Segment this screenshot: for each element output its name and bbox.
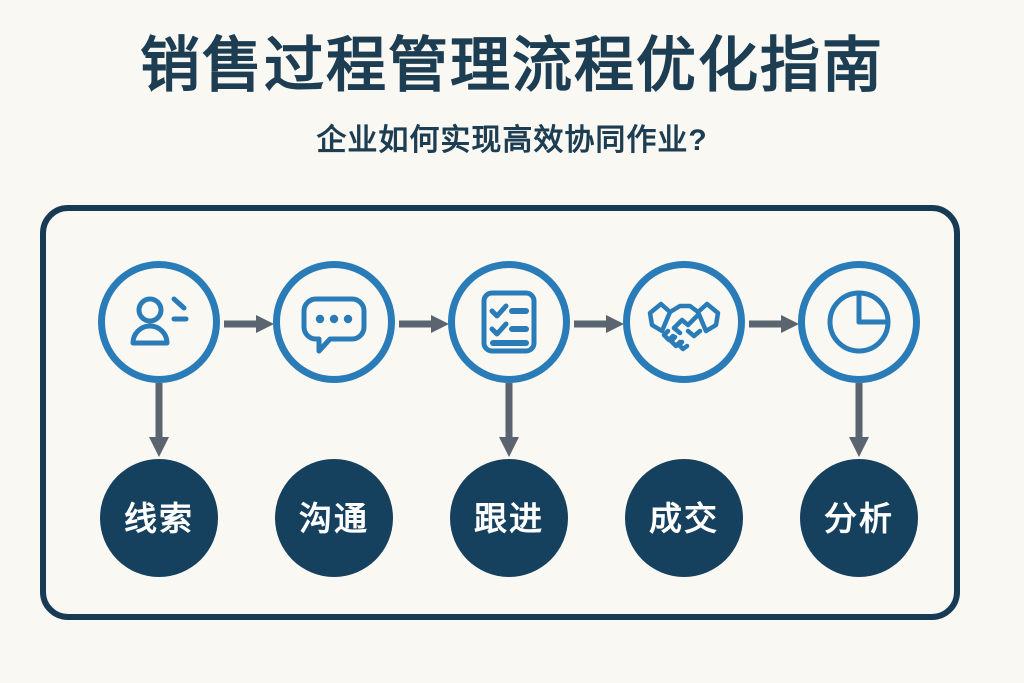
speech-bubble-icon [297, 285, 371, 359]
infographic-canvas: 销售过程管理流程优化指南 企业如何实现高效协同作业? [0, 0, 1024, 683]
page-subtitle: 企业如何实现高效协同作业? [0, 115, 1024, 159]
stage-bubble-2[interactable]: 沟通 [275, 459, 393, 577]
step-3-ring [448, 261, 570, 383]
step-5-ring [798, 261, 920, 383]
connector-arrow-3 [574, 314, 628, 334]
down-arrow-step-5 [846, 383, 872, 461]
down-arrow-step-1 [146, 383, 172, 461]
flow-step-4[interactable] [623, 261, 745, 383]
header: 销售过程管理流程优化指南 企业如何实现高效协同作业? [0, 0, 1024, 159]
stage-label-2: 沟通 [299, 502, 369, 535]
step-4-ring [623, 261, 745, 383]
stage-label-1: 线索 [124, 502, 194, 535]
step-1-ring [98, 261, 220, 383]
flow-step-1[interactable] [98, 261, 220, 383]
flow-panel: 线索 沟通 跟进 成交 分析 [40, 205, 960, 620]
down-arrow-step-3 [496, 383, 522, 461]
step-2-ring [273, 261, 395, 383]
flow-step-3[interactable] [448, 261, 570, 383]
checklist-clipboard-icon [472, 285, 546, 359]
stage-bubble-5[interactable]: 分析 [800, 459, 918, 577]
stage-label-4: 成交 [649, 502, 719, 535]
handshake-icon [644, 285, 724, 359]
stage-bubble-1[interactable]: 线索 [100, 459, 218, 577]
connector-arrow-1 [224, 314, 278, 334]
stage-label-3: 跟进 [474, 502, 544, 535]
connector-arrow-2 [399, 314, 453, 334]
flow-step-5[interactable] [798, 261, 920, 383]
flow-step-2[interactable] [273, 261, 395, 383]
stage-bubble-4[interactable]: 成交 [625, 459, 743, 577]
flow-row: 线索 沟通 跟进 成交 分析 [46, 211, 966, 626]
stage-label-5: 分析 [824, 502, 894, 535]
connector-arrow-4 [749, 314, 803, 334]
stage-bubble-3[interactable]: 跟进 [450, 459, 568, 577]
pie-chart-icon [822, 285, 896, 359]
user-prospect-icon [122, 285, 196, 359]
page-title: 销售过程管理流程优化指南 [0, 34, 1024, 97]
